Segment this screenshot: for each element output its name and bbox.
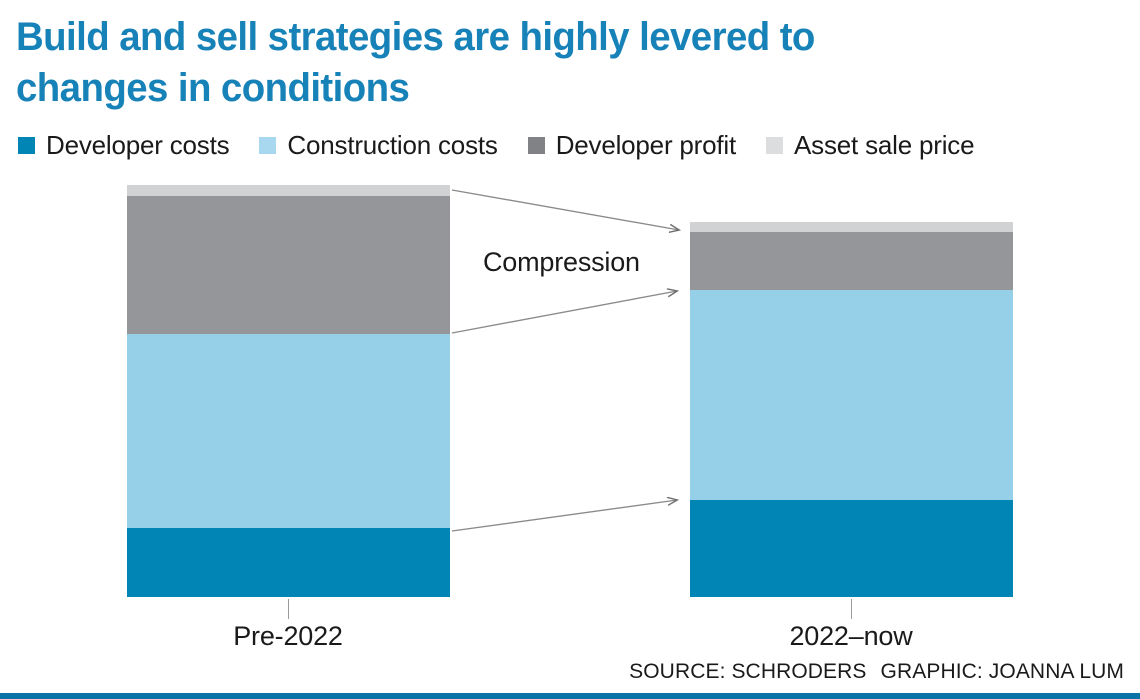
bar-segment-developer-profit bbox=[127, 196, 450, 334]
annotation-compression: Compression bbox=[483, 247, 640, 277]
plot-area: Pre-2022 2022–now Compression bbox=[0, 0, 1140, 699]
bar-segment-developer-costs bbox=[690, 500, 1013, 597]
source-credit: SOURCE: SCHRODERS bbox=[629, 660, 866, 683]
chart-page: Build and sell strategies are highly lev… bbox=[0, 0, 1140, 699]
bar-segment-asset-sale-price bbox=[690, 222, 1013, 232]
bar-segment-developer-profit bbox=[690, 232, 1013, 290]
axis-tick-pre-2022 bbox=[288, 599, 289, 619]
arrow-top bbox=[452, 190, 679, 230]
axis-label-pre-2022: Pre-2022 bbox=[168, 621, 408, 651]
bar-segment-construction-costs bbox=[690, 290, 1013, 500]
graphic-credit: GRAPHIC: JOANNA LUM bbox=[881, 660, 1124, 683]
bar-segment-asset-sale-price bbox=[127, 185, 450, 196]
arrow-middle bbox=[452, 291, 677, 333]
bottom-rule bbox=[0, 693, 1140, 699]
axis-tick-2022-now bbox=[851, 599, 852, 619]
chart-credits: SOURCE: SCHRODERSGRAPHIC: JOANNA LUM bbox=[629, 660, 1124, 684]
bar-segment-construction-costs bbox=[127, 334, 450, 528]
stacked-bar-2022-now bbox=[690, 222, 1013, 597]
stacked-bar-pre-2022 bbox=[127, 185, 450, 597]
bar-segment-developer-costs bbox=[127, 528, 450, 597]
arrow-bottom bbox=[452, 500, 677, 531]
axis-label-2022-now: 2022–now bbox=[731, 621, 971, 651]
